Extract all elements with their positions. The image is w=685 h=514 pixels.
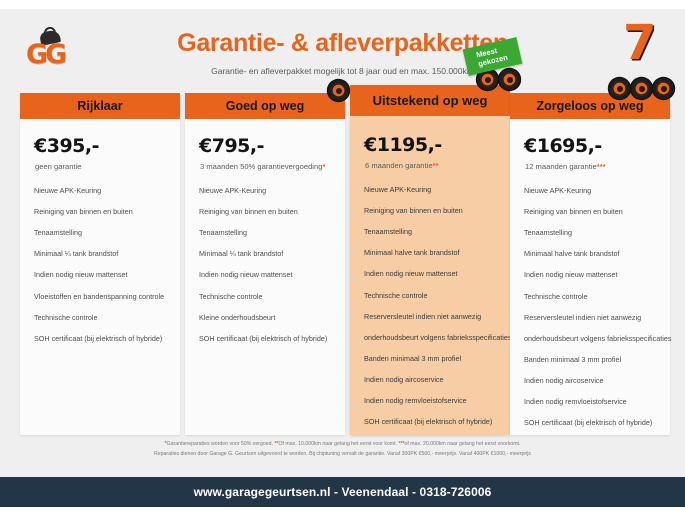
feature-item: Tenaamstelling [34,229,170,250]
package-name: Goed op weg [226,99,304,113]
feature-item: Reiniging van binnen en buiten [34,208,170,229]
tire-rating: Meest gekozen [477,69,520,90]
package-card-rijklaar[interactable]: Rijklaar €395,- geen garantie Nieuwe APK… [20,93,180,435]
warranty-stars: ** [433,161,439,170]
feature-item: Technische controle [524,293,660,314]
package-price: €395,- [20,119,180,156]
poster-root: GG 7 Garantie- & afleverpakketten Garant… [0,0,685,514]
package-name: Uitstekend op weg [373,93,488,108]
feature-item: SOH certificaat (bij elektrisch of hybri… [199,335,335,356]
tire-rating [609,78,674,99]
tire-icon [653,78,674,99]
footer-bar: www.garagegeurtsen.nl - Veenendaal - 031… [0,477,685,507]
page-title: Garantie- & afleverpakketten [0,29,685,58]
feature-item: Technische controle [364,292,500,313]
package-card-goed-op-weg[interactable]: Goed op weg €795,- 3 maanden 50% garanti… [185,93,345,435]
disclaimer-1b: Garantiereparaties worden voor 50% vergo… [167,441,275,447]
package-name: Zorgeloos op weg [537,99,644,113]
feature-item: Indien nodig remvloeistofservice [524,398,660,419]
tire-icon [328,80,349,101]
feature-item: Reserversleutel indien niet aanwezig [364,313,500,334]
footer-contact-text: www.garagegeurtsen.nl - Veenendaal - 031… [194,485,492,499]
feature-item: Tenaamstelling [364,228,500,249]
feature-item: Reiniging van binnen en buiten [524,208,660,229]
package-warranty: 3 maanden 50% garantievergoeding* [185,156,345,171]
tire-icon [499,69,520,90]
feature-item: Kleine onderhoudsbeurt [199,314,335,335]
feature-item: SOH certificaat (bij elektrisch of hybri… [34,335,170,356]
feature-item: SOH certificaat (bij elektrisch of hybri… [524,419,660,440]
feature-item: Banden minimaal 3 mm profiel [524,356,660,377]
feature-item: onderhoudsbeurt volgens fabrieksspecific… [364,334,500,355]
warranty-stars: *** [597,162,606,171]
disclaimer: *Garantiereparaties worden voor 50% verg… [0,440,685,459]
package-name: Rijklaar [77,99,122,113]
disclaimer-1f: of max. 20.000km naar gelang het eerst v… [405,441,521,447]
feature-item: Indien nodig aircoservice [364,376,500,397]
warranty-stars: * [322,162,325,171]
feature-item: Minimaal halve tank brandstof [524,250,660,271]
package-header: Uitstekend op weg Meest gekozen [350,85,510,116]
feature-item: Minimaal halve tank brandstof [364,249,500,270]
disclaimer-line-1: *Garantiereparaties worden voor 50% verg… [100,440,585,450]
disclaimer-1d: Of max. 10.000km naar gelang het eerst v… [279,441,399,447]
feature-item: Reiniging van binnen en buiten [199,208,335,229]
package-header: Goed op weg [185,93,345,119]
feature-item: Reserversleutel indien niet aanwezig [524,314,660,335]
header: GG 7 Garantie- & afleverpakketten Garant… [0,9,685,85]
tire-icon [609,78,630,99]
package-warranty: geen garantie [20,156,180,171]
feature-item: Indien nodig remvloeistofservice [364,397,500,418]
disclaimer-line-2: Reparaties dienen door Garage G. Geurtse… [100,450,585,460]
package-columns: Rijklaar €395,- geen garantie Nieuwe APK… [0,85,685,435]
feature-item: Nieuwe APK-Keuring [34,187,170,208]
bottom-white-margin [0,507,685,514]
feature-item: Nieuwe APK-Keuring [199,187,335,208]
package-warranty: 6 maanden garantie** [350,155,510,170]
feature-item: Tenaamstelling [524,229,660,250]
package-card-zorgeloos-op-weg[interactable]: Zorgeloos op weg €1695,- 12 maanden gara… [510,93,670,435]
warranty-text: 3 maanden 50% garantievergoeding [200,162,322,171]
package-warranty: 12 maanden garantie*** [510,156,670,171]
feature-item: SOH certificaat (bij elektrisch of hybri… [364,418,500,439]
feature-item: Nieuwe APK-Keuring [524,187,660,208]
feature-list: Nieuwe APK-KeuringReiniging van binnen e… [20,171,180,356]
package-card-uitstekend-op-weg[interactable]: Uitstekend op weg Meest gekozen €1195,- … [350,85,510,435]
feature-item: Banden minimaal 3 mm profiel [364,355,500,376]
tire-icon [631,78,652,99]
package-header: Rijklaar [20,93,180,119]
top-white-margin [0,0,685,9]
feature-item: Tenaamstelling [199,229,335,250]
feature-list: Nieuwe APK-KeuringReiniging van binnen e… [510,171,670,440]
package-price: €1195,- [350,116,510,155]
warranty-text: 12 maanden garantie [525,162,597,171]
feature-item: Indien nodig nieuw mattenset [524,271,660,292]
feature-item: Nieuwe APK-Keuring [364,186,500,207]
package-price: €795,- [185,119,345,156]
package-price: €1695,- [510,119,670,156]
feature-item: Minimaal ¼ tank brandstof [199,250,335,271]
feature-item: Indien nodig nieuw mattenset [364,270,500,291]
tire-rating [328,80,349,101]
warranty-text: geen garantie [35,162,81,171]
warranty-text: 6 maanden garantie [365,161,433,170]
feature-item: Minimaal ¼ tank brandstof [34,250,170,271]
feature-item: Indien nodig nieuw mattenset [34,271,170,292]
page-subtitle: Garantie- en afleverpakket mogelijk tot … [0,66,685,76]
package-header: Zorgeloos op weg [510,93,670,119]
feature-item: Technische controle [199,293,335,314]
feature-list: Nieuwe APK-KeuringReiniging van binnen e… [185,171,345,356]
feature-item: Indien nodig nieuw mattenset [199,271,335,292]
feature-item: Indien nodig aircoservice [524,377,660,398]
feature-item: Technische controle [34,314,170,335]
feature-item: Vloeistoffen en bandenspanning controle [34,293,170,314]
feature-item: onderhoudsbeurt volgens fabrieksspecific… [524,335,660,356]
feature-item: Reiniging van binnen en buiten [364,207,500,228]
feature-list: Nieuwe APK-KeuringReiniging van binnen e… [350,170,510,439]
